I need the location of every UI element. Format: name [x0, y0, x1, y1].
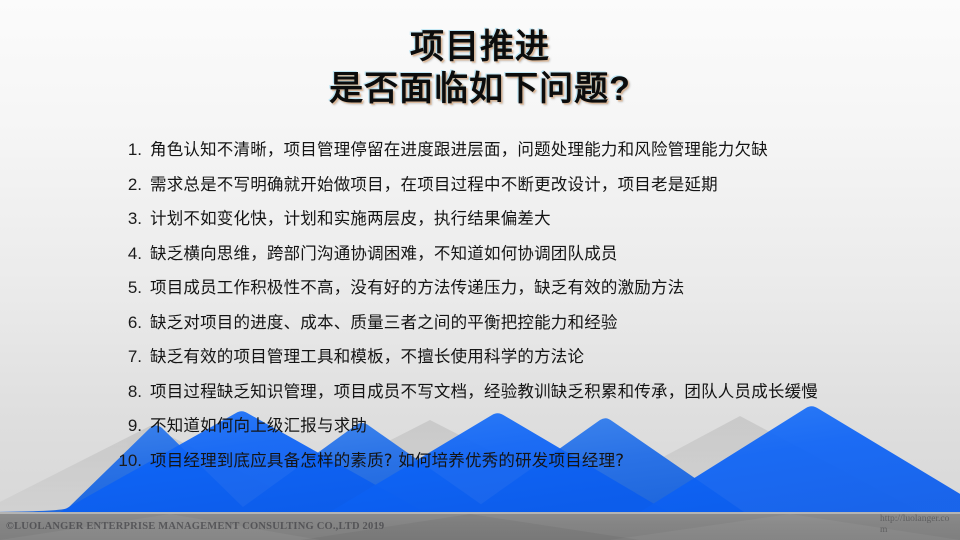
- list-item-label: 缺乏对项目的进度、成本、质量三者之间的平衡把控能力和经验: [150, 309, 618, 333]
- list-item-number: 5.: [96, 278, 150, 298]
- list-item: 9. 不知道如何向上级汇报与求助: [96, 412, 906, 447]
- title-line-1: 项目推进: [0, 26, 960, 68]
- list-item-label: 缺乏有效的项目管理工具和模板，不擅长使用科学的方法论: [150, 343, 584, 367]
- list-item-number: 3.: [96, 209, 150, 229]
- slide-canvas: 项目推进 是否面临如下问题? 1. 角色认知不清晰，项目管理停留在进度跟进层面，…: [0, 0, 960, 540]
- page-title: 项目推进 是否面临如下问题?: [0, 26, 960, 110]
- list-item: 3. 计划不如变化快，计划和实施两层皮，执行结果偏差大: [96, 205, 906, 240]
- list-item: 8. 项目过程缺乏知识管理，项目成员不写文档，经验教训缺乏积累和传承，团队人员成…: [96, 378, 906, 413]
- list-item-label: 项目过程缺乏知识管理，项目成员不写文档，经验教训缺乏积累和传承，团队人员成长缓慢: [150, 378, 818, 402]
- list-item-number: 8.: [96, 382, 150, 402]
- list-item-label: 不知道如何向上级汇报与求助: [150, 412, 367, 436]
- list-item-label: 角色认知不清晰，项目管理停留在进度跟进层面，问题处理能力和风险管理能力欠缺: [150, 136, 768, 160]
- list-item-number: 7.: [96, 347, 150, 367]
- list-item-label: 项目成员工作积极性不高，没有好的方法传递压力，缺乏有效的激励方法: [150, 274, 684, 298]
- list-item-label: 计划不如变化快，计划和实施两层皮，执行结果偏差大: [150, 205, 551, 229]
- list-item-label: 缺乏横向思维，跨部门沟通协调困难，不知道如何协调团队成员: [150, 240, 618, 264]
- list-item-label: 需求总是不写明确就开始做项目，在项目过程中不断更改设计，项目老是延期: [150, 171, 718, 195]
- list-item-number: 2.: [96, 175, 150, 195]
- list-item: 2. 需求总是不写明确就开始做项目，在项目过程中不断更改设计，项目老是延期: [96, 171, 906, 206]
- title-line-2: 是否面临如下问题?: [0, 68, 960, 110]
- list-item-number: 6.: [96, 313, 150, 333]
- problem-list: 1. 角色认知不清晰，项目管理停留在进度跟进层面，问题处理能力和风险管理能力欠缺…: [96, 136, 906, 481]
- site-watermark: http://luolanger.com: [880, 514, 950, 536]
- list-item: 6. 缺乏对项目的进度、成本、质量三者之间的平衡把控能力和经验: [96, 309, 906, 344]
- list-item: 4. 缺乏横向思维，跨部门沟通协调困难，不知道如何协调团队成员: [96, 240, 906, 275]
- copyright-notice: ©LUOLANGER ENTERPRISE MANAGEMENT CONSULT…: [6, 521, 384, 532]
- list-item: 1. 角色认知不清晰，项目管理停留在进度跟进层面，问题处理能力和风险管理能力欠缺: [96, 136, 906, 171]
- list-item: 7. 缺乏有效的项目管理工具和模板，不擅长使用科学的方法论: [96, 343, 906, 378]
- list-item-number: 10.: [96, 451, 150, 471]
- list-item-label: 项目经理到底应具备怎样的素质? 如何培养优秀的研发项目经理?: [150, 447, 624, 471]
- list-item-number: 1.: [96, 140, 150, 160]
- list-item-number: 4.: [96, 244, 150, 264]
- list-item: 5. 项目成员工作积极性不高，没有好的方法传递压力，缺乏有效的激励方法: [96, 274, 906, 309]
- list-item: 10. 项目经理到底应具备怎样的素质? 如何培养优秀的研发项目经理?: [96, 447, 906, 482]
- list-item-number: 9.: [96, 416, 150, 436]
